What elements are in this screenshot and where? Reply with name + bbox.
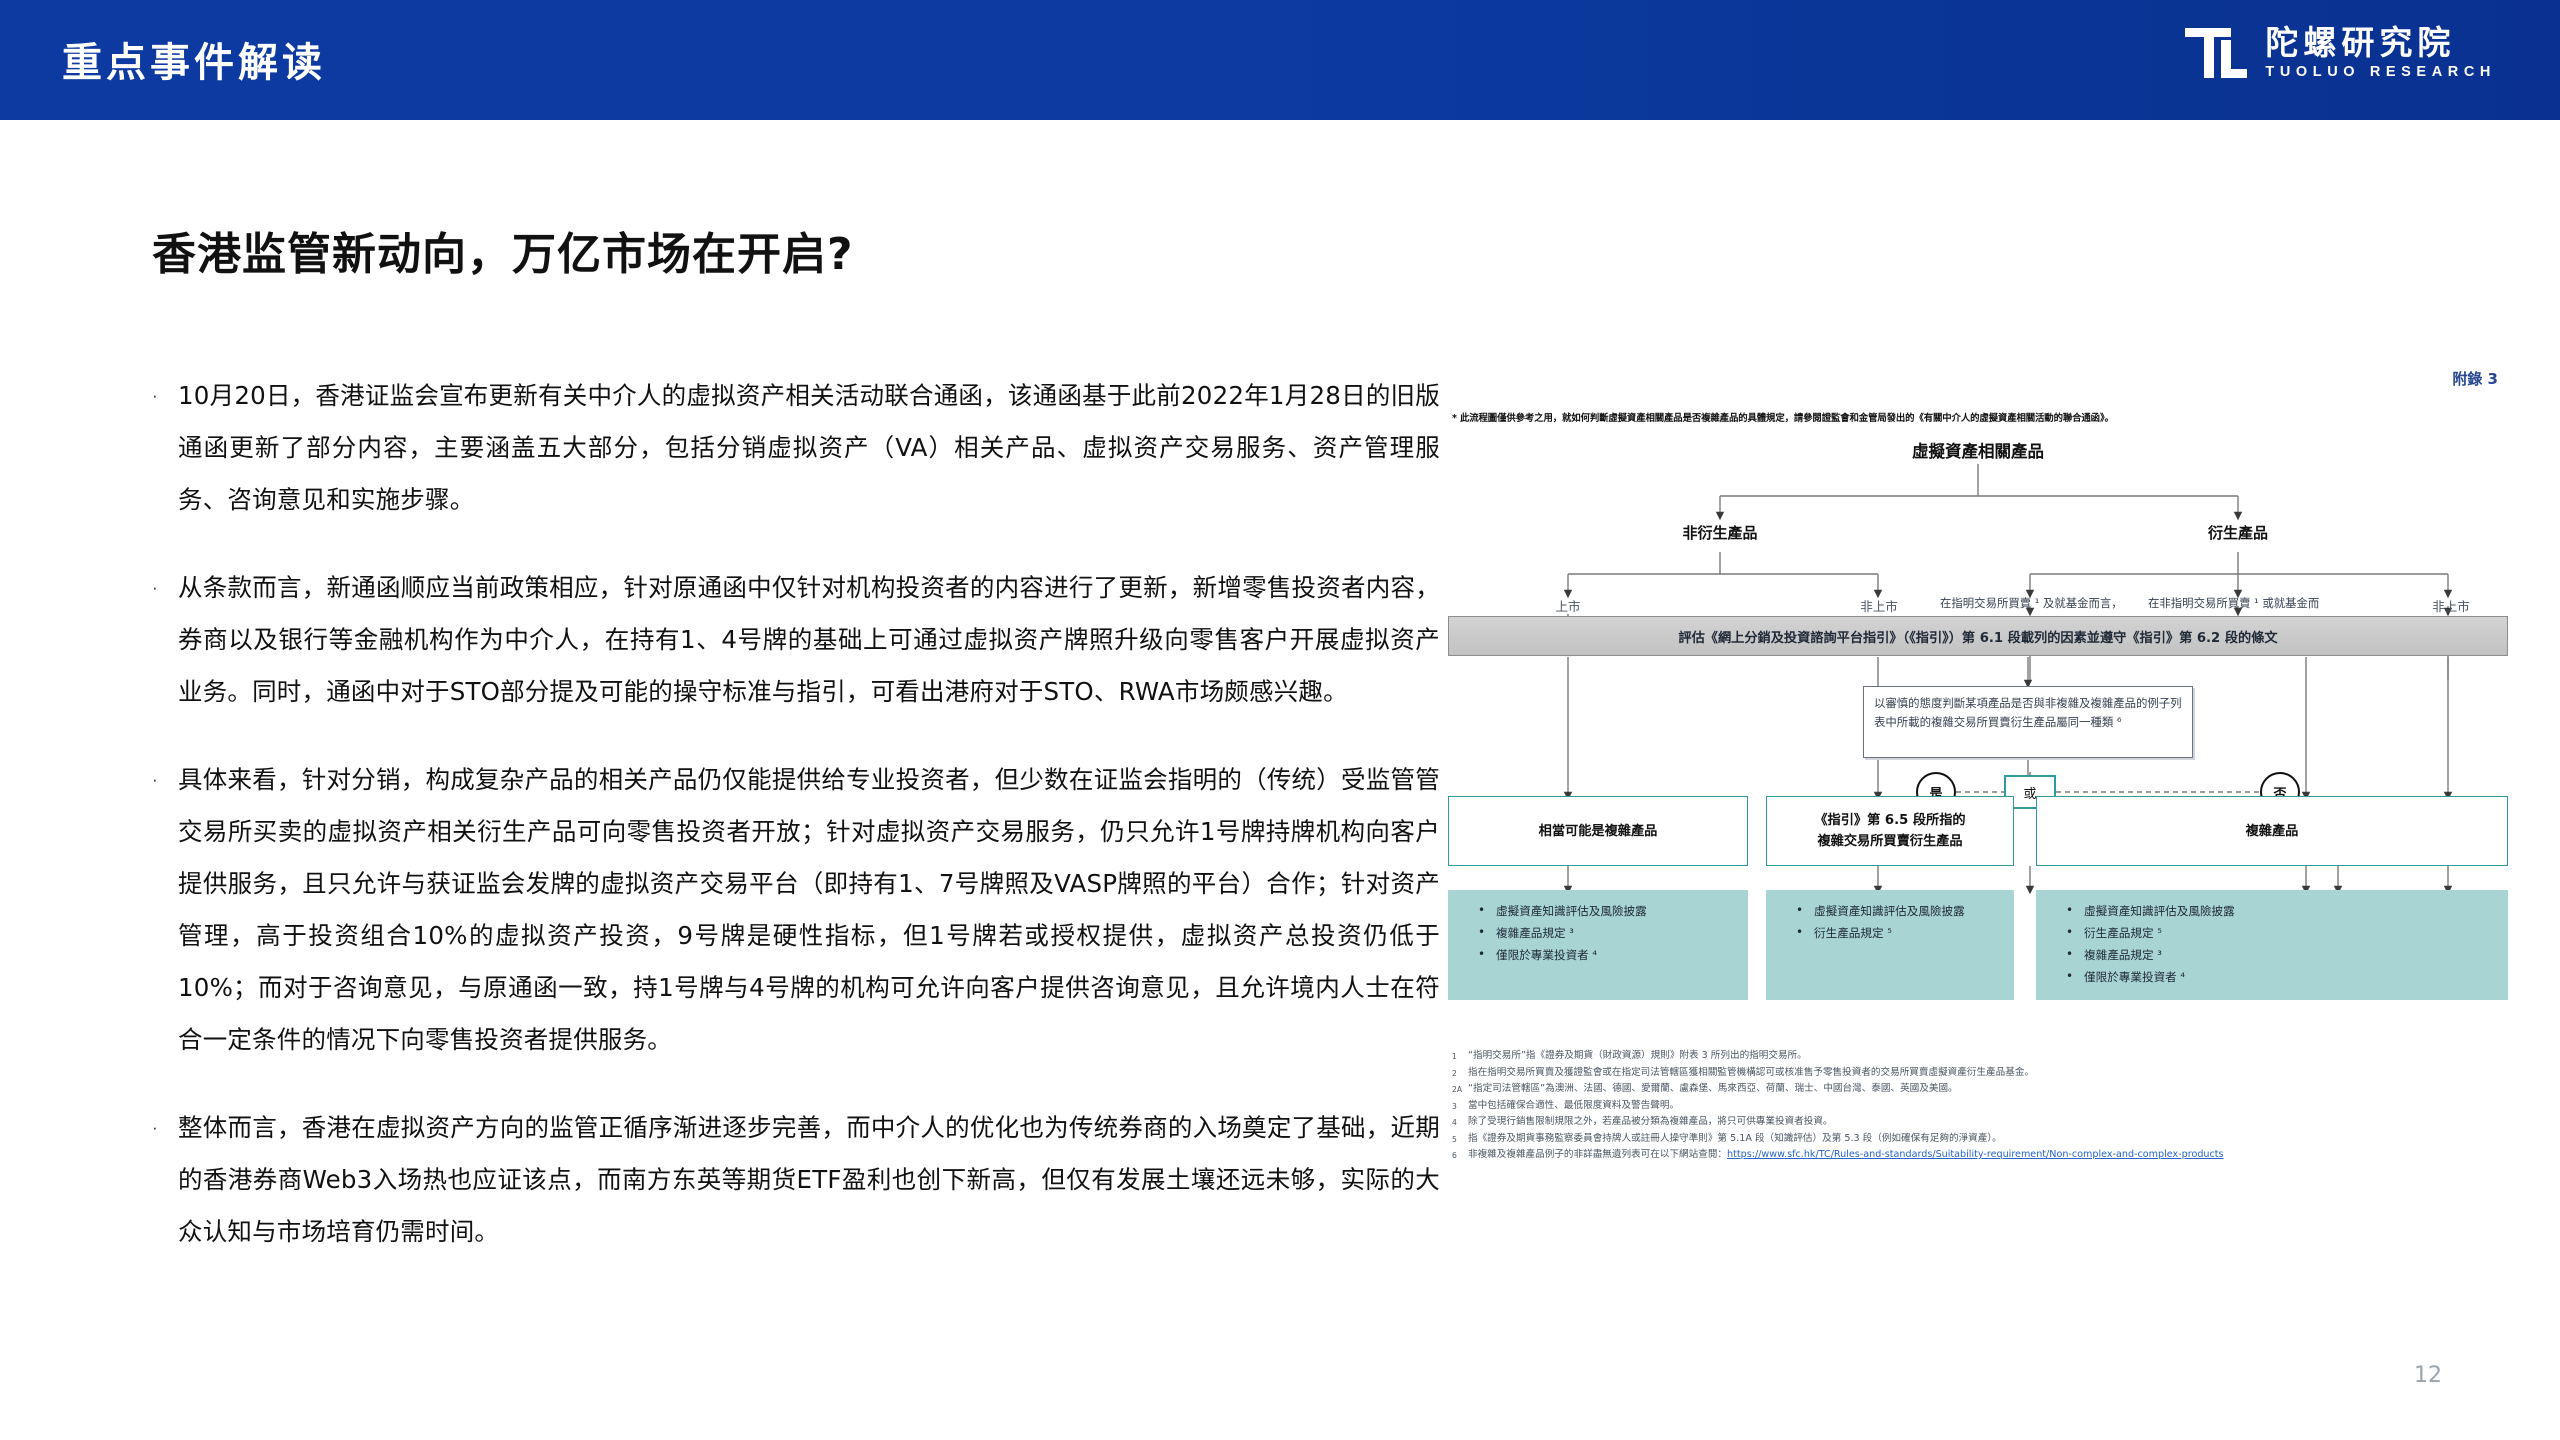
footnote-marker: 6 [1452,1147,1468,1164]
bullet-glyph: · [150,754,178,1066]
requirement-item: 虛擬資產知識評估及風險披露 [1766,900,2014,922]
footnote-text: 指在指明交易所買賣及獲證監會或在指定司法管轄區獲相關監管機構認可或核准售予零售投… [1468,1065,2034,1082]
footnote-item: 2A “指定司法管轄區”為澳洲、法國、德國、愛爾蘭、盧森堡、馬來西亞、荷蘭、瑞士… [1452,1081,2502,1098]
brand-logo: 陀螺研究院 TUOLUO RESEARCH [2181,22,2496,84]
footnote-marker: 4 [1452,1114,1468,1131]
paragraph-item: · 整体而言，香港在虚拟资产方向的监管正循序渐进逐步完善，而中介人的优化也为传统… [150,1102,1440,1258]
paragraph-item: · 10月20日，香港证监会宣布更新有关中介人的虚拟资产相关活动联合通函，该通函… [150,370,1440,526]
footnote-marker: 3 [1452,1098,1468,1115]
footnote-link[interactable]: https://www.sfc.hk/TC/Rules-and-standard… [1727,1147,2224,1164]
branch-label-non-derivative: 非衍生產品 [1630,522,1810,543]
footnote-text: 當中包括確保合適性、最低限度資料及警告聲明。 [1468,1098,1679,1115]
footnote-text: 指《證券及期貨事務監察委員會持牌人或註冊人操守準則》第 5.1A 段（知識評估）… [1468,1131,2002,1148]
paragraph-text: 从条款而言，新通函顺应当前政策相应，针对原通函中仅针对机构投资者的内容进行了更新… [178,562,1440,718]
flowchart-footnote-list: 1 “指明交易所”指《證券及期貨（財政資源）規則》附表 3 所列出的指明交易所。… [1452,1048,2502,1164]
requirements-panel-complex: 虛擬資產知識評估及風險披露 衍生產品規定 ⁵ 複雜產品規定 ³ 僅限於專業投資者… [2036,890,2508,1000]
requirement-item: 虛擬資產知識評估及風險披露 [2036,900,2508,922]
requirements-panel-guideline-6-5: 虛擬資產知識評估及風險披露 衍生產品規定 ⁵ [1766,890,2014,1000]
outcome-title-line-1: 《指引》第 6.5 段所指的 [1814,810,1965,831]
footnote-marker: 2 [1452,1065,1468,1082]
paragraph-text: 整体而言，香港在虚拟资产方向的监管正循序渐进逐步完善，而中介人的优化也为传统券商… [178,1102,1440,1258]
bullet-glyph: · [150,370,178,526]
requirement-item: 衍生產品規定 ⁵ [1766,922,2014,944]
footnote-marker: 1 [1452,1048,1468,1065]
paragraph-item: · 具体来看，针对分销，构成复杂产品的相关产品仍仅能提供给专业投资者，但少数在证… [150,754,1440,1066]
outcome-box-likely-complex: 相當可能是複雜產品 [1448,796,1748,866]
paragraph-text: 10月20日，香港证监会宣布更新有关中介人的虚拟资产相关活动联合通函，该通函基于… [178,370,1440,526]
footnote-item: 1 “指明交易所”指《證券及期貨（財政資源）規則》附表 3 所列出的指明交易所。 [1452,1048,2502,1065]
footnote-text: “指定司法管轄區”為澳洲、法國、德國、愛爾蘭、盧森堡、馬來西亞、荷蘭、瑞士、中國… [1468,1081,1958,1098]
logo-cn-text: 陀螺研究院 [2265,26,2455,61]
judgement-box: 以審慎的態度判斷某項產品是否與非複雜及複雜產品的例子列表中所載的複雜交易所買賣衍… [1863,686,2193,758]
bullet-glyph: · [150,1102,178,1258]
leaf-label-listed: 上市 [1528,596,1608,615]
page-title: 重点事件解读 [62,30,326,88]
footnote-marker: 5 [1452,1131,1468,1148]
footnote-text: 非複雜及複雜產品例子的非詳盡無遺列表可在以下網站查閱： [1468,1147,1727,1164]
footnote-item: 6 非複雜及複雜產品例子的非詳盡無遺列表可在以下網站查閱： https://ww… [1452,1147,2502,1164]
header-banner: 重点事件解读 陀螺研究院 TUOLUO RESEARCH [0,0,2560,120]
requirement-item: 衍生產品規定 ⁵ [2036,922,2508,944]
bullet-glyph: · [150,562,178,718]
leaf-label-unlisted-right: 非上市 [2406,596,2496,615]
leaf-label-unlisted: 非上市 [1834,596,1924,615]
paragraph-item: · 从条款而言，新通函顺应当前政策相应，针对原通函中仅针对机构投资者的内容进行了… [150,562,1440,718]
footnote-text: “指明交易所”指《證券及期貨（財政資源）規則》附表 3 所列出的指明交易所。 [1468,1048,1807,1065]
footnote-item: 2 指在指明交易所買賣及獲證監會或在指定司法管轄區獲相關監管機構認可或核准售予零… [1452,1065,2502,1082]
requirements-panel-likely-complex: 虛擬資產知識評估及風險披露 複雜產品規定 ³ 僅限於專業投資者 ⁴ [1448,890,1748,1000]
requirement-item: 複雜產品規定 ³ [2036,944,2508,966]
evaluation-bar: 評估《網上分銷及投資諮詢平台指引》（《指引》）第 6.1 段載列的因素並遵守《指… [1448,616,2508,656]
page-number: 12 [2414,1363,2442,1388]
outcome-box-guideline-6-5: 《指引》第 6.5 段所指的 複雜交易所買賣衍生產品 [1766,796,2014,866]
body-paragraph-list: · 10月20日，香港证监会宣布更新有关中介人的虚拟资产相关活动联合通函，该通函… [150,370,1440,1294]
requirement-item: 僅限於專業投資者 ⁴ [2036,966,2508,988]
requirement-item: 複雜產品規定 ³ [1448,922,1748,944]
paragraph-text: 具体来看，针对分销，构成复杂产品的相关产品仍仅能提供给专业投资者，但少数在证监会… [178,754,1440,1066]
requirement-item: 虛擬資產知識評估及風險披露 [1448,900,1748,922]
footnote-item: 4 除了受現行銷售限制規限之外，若產品被分類為複雜產品，將只可供專業投資者投資。 [1452,1114,2502,1131]
footnote-item: 5 指《證券及期貨事務監察委員會持牌人或註冊人操守準則》第 5.1A 段（知識評… [1452,1131,2502,1148]
requirement-item: 僅限於專業投資者 ⁴ [1448,944,1748,966]
footnote-marker: 2A [1452,1081,1468,1098]
slide-heading: 香港监管新动向，万亿市场在开启? [152,218,1332,282]
slide: 重点事件解读 陀螺研究院 TUOLUO RESEARCH 香港监管新动向，万亿市… [0,0,2560,1440]
logo-en-text: TUOLUO RESEARCH [2265,64,2496,80]
outcome-box-complex: 複雜產品 [2036,796,2508,866]
outcome-title-line-2: 複雜交易所買賣衍生產品 [1817,831,1962,852]
footnote-item: 3 當中包括確保合適性、最低限度資料及警告聲明。 [1452,1098,2502,1115]
footnote-text: 除了受現行銷售限制規限之外，若產品被分類為複雜產品，將只可供專業投資者投資。 [1468,1114,1833,1131]
tl-monogram-icon [2181,22,2249,84]
flowchart: 附錄 3 * 此流程圖僅供參考之用，就如何判斷虛擬資產相關產品是否複雜產品的具體… [1448,368,2508,1128]
branch-label-derivative: 衍生產品 [2148,522,2328,543]
